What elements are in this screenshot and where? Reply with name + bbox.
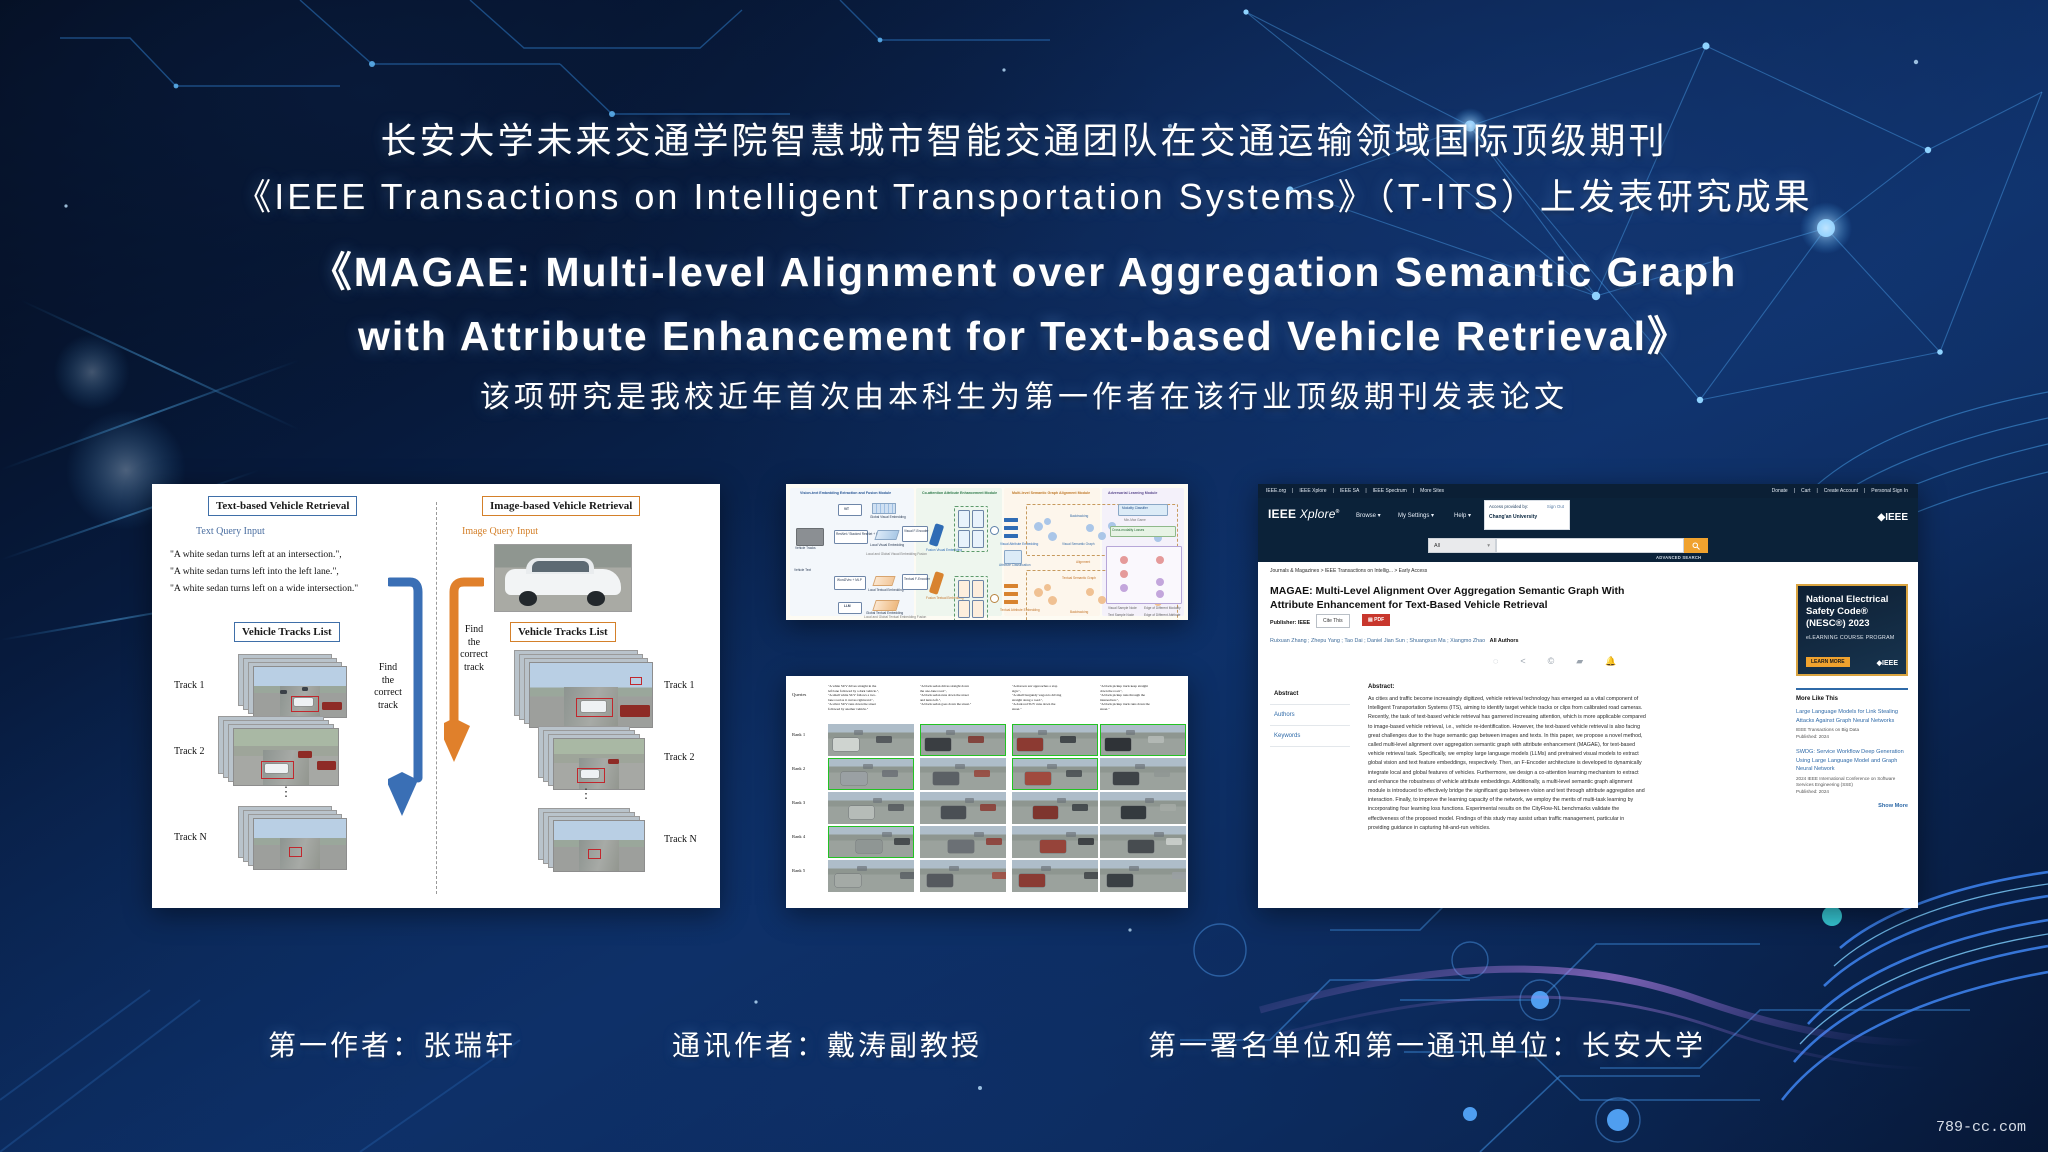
link-personal-sign-in[interactable]: Personal Sign In	[1871, 488, 1908, 494]
link-ieee-xplore[interactable]: IEEE Xplore	[1299, 488, 1326, 494]
link-donate[interactable]: Donate	[1772, 488, 1788, 494]
publisher-line: Publisher: IEEE	[1270, 620, 1310, 626]
rank-thumbnail	[828, 860, 914, 892]
pdf-button[interactable]: ▤ PDF	[1362, 614, 1390, 626]
breadcrumb[interactable]: Journals & Magazines > IEEE Transactions…	[1270, 568, 1427, 574]
ieee-search-row: All ▾ ADVANCED SEARCH	[1258, 532, 1918, 562]
track-ellipsis-left: ⋮	[276, 790, 296, 794]
arch-module-title-2: Co-attention Attribute Enhancement Modul…	[922, 491, 997, 495]
ieee-diamond-logo: ◆IEEE	[1878, 512, 1909, 523]
track-label-left-3: Track N	[174, 832, 207, 843]
rank-thumbnail	[920, 758, 1006, 790]
arch-module-title-3: Multi-level Semantic Graph Alignment Mod…	[1012, 491, 1090, 495]
label-image-query-input: Image Query Input	[462, 526, 538, 537]
rank-thumbnail	[828, 758, 914, 790]
chip-vehicle-tracks-list-right: Vehicle Tracks List	[510, 622, 616, 642]
find-track-caption-left: Find the correct track	[366, 662, 410, 712]
link-cart[interactable]: Cart	[1801, 488, 1810, 494]
chip-image-based-retrieval: Image-based Vehicle Retrieval	[482, 496, 640, 516]
rank-thumbnail	[1012, 826, 1098, 858]
sidenav-abstract[interactable]: Abstract	[1270, 684, 1350, 705]
rank-thumbnail	[1100, 724, 1186, 756]
ad-subtitle: eLEARNING COURSE PROGRAM	[1806, 635, 1898, 641]
figure-retrieval-ranking-results: Queries Rank 1 Rank 2 Rank 3 Rank 4 Rank…	[786, 676, 1188, 908]
chip-vehicle-tracks-list-left: Vehicle Tracks List	[234, 622, 340, 642]
search-input[interactable]	[1496, 538, 1684, 553]
rank-thumbnail	[1100, 860, 1186, 892]
arch-attribute-classification-icon	[1004, 550, 1022, 564]
ieee-top-utility-bar: IEEE.org| IEEE Xplore| IEEE SA| IEEE Spe…	[1258, 484, 1918, 498]
ieee-document-body: Journals & Magazines > IEEE Transactions…	[1258, 562, 1918, 908]
advanced-search-link[interactable]: ADVANCED SEARCH	[1656, 555, 1701, 560]
rank-query-col-3: "A maroon suv approaches a stop sign.", …	[1012, 684, 1100, 712]
sidenav-keywords[interactable]: Keywords	[1270, 726, 1350, 747]
track-label-right-2: Track 2	[664, 752, 694, 763]
chip-text-based-retrieval: Text-based Vehicle Retrieval	[208, 496, 357, 516]
rank-query-col-1: "A white SUV drives straight in the left…	[828, 684, 916, 712]
query-line-2: "A white sedan turns left into the left …	[170, 565, 339, 579]
author-list: Ruixuan Zhang ; Zhepu Yang ; Tao Dai ; D…	[1270, 638, 1519, 644]
track-label-left-1: Track 1	[174, 680, 204, 691]
rank-row-label-0: Queries	[792, 692, 806, 697]
query-line-3: "A white sedan turns left on a wide inte…	[170, 582, 358, 596]
search-scope-select[interactable]: All ▾	[1428, 538, 1496, 553]
document-title: MAGAE: Multi-Level Alignment Over Aggreg…	[1270, 584, 1640, 612]
track-label-left-2: Track 2	[174, 746, 204, 757]
rank-row-label-1: Rank 1	[792, 732, 805, 737]
alert-bell-icon[interactable]: 🔔	[1605, 656, 1616, 667]
track-label-right-3: Track N	[664, 834, 697, 845]
arch-input-vehicle-tracks	[796, 528, 824, 546]
headline-subtitle: 该项研究是我校近年首次由本科生为第一作者在该行业顶级期刊发表论文	[0, 372, 2048, 416]
query-car-image	[494, 544, 632, 612]
search-icon	[1692, 542, 1700, 550]
advertisement-nesc[interactable]: National Electrical Safety Code® (NESC®)…	[1796, 584, 1908, 676]
link-ieee-org[interactable]: IEEE.org	[1266, 488, 1286, 494]
rank-thumbnail	[920, 724, 1006, 756]
link-ieee-spectrum[interactable]: IEEE Spectrum	[1373, 488, 1407, 494]
arch-module-title-4: Adversarial Learning Module	[1108, 491, 1157, 495]
cite-this-button[interactable]: Cite This	[1316, 614, 1350, 628]
label-text-query-input: Text Query Input	[196, 526, 265, 537]
poster-canvas: 长安大学未来交通学院智慧城市智能交通团队在交通运输领域国际顶级期刊 《IEEE …	[0, 0, 2048, 1152]
rank-thumbnail	[1012, 724, 1098, 756]
footer-affiliation: 第一署名单位和第一通讯单位：长安大学	[1148, 1024, 1706, 1064]
track-label-right-1: Track 1	[664, 680, 694, 691]
rank-thumbnail	[828, 792, 914, 824]
rank-row-label-3: Rank 3	[792, 800, 805, 805]
figure-text-vs-image-retrieval: Text-based Vehicle Retrieval Image-based…	[152, 484, 720, 908]
rank-row-label-2: Rank 2	[792, 766, 805, 771]
rank-query-col-2: "A black sedan drives straight down the …	[920, 684, 1008, 707]
rank-thumbnail	[1100, 758, 1186, 790]
arch-input-vehicle-text: Vehicle Text	[794, 568, 824, 572]
abstract-text: As cities and traffic become increasingl…	[1368, 695, 1646, 833]
show-more-link[interactable]: Show More	[1796, 803, 1908, 809]
rank-thumbnail	[1100, 792, 1186, 824]
rank-thumbnail	[1012, 792, 1098, 824]
headline-line-1: 长安大学未来交通学院智慧城市智能交通团队在交通运输领域国际顶级期刊	[0, 112, 2048, 164]
ieee-xplore-logo[interactable]: IEEE Xplore®	[1268, 507, 1339, 521]
info-icon[interactable]: ◌	[1493, 656, 1498, 667]
folder-icon[interactable]: ▰	[1576, 656, 1583, 667]
rank-thumbnail	[1012, 758, 1098, 790]
track-ellipsis-right: ⋮	[576, 792, 596, 796]
link-create-account[interactable]: Create Account	[1824, 488, 1858, 494]
related-article-1-meta: IEEE Transactions on Big Data Published:…	[1796, 727, 1908, 740]
related-article-2-meta: 2024 IEEE International Conference on So…	[1796, 776, 1908, 795]
figure-model-architecture: Vision-text Embedding Extraction and Fus…	[786, 484, 1188, 620]
more-like-this-panel: More Like This Large Language Models for…	[1796, 688, 1908, 809]
rank-thumbnail	[828, 724, 914, 756]
watermark: 789-cc.com	[1936, 1119, 2026, 1136]
panel-divider	[436, 502, 437, 894]
more-like-this-heading: More Like This	[1796, 696, 1908, 702]
ad-learn-more-button[interactable]: LEARN MORE	[1806, 657, 1850, 667]
copyright-icon[interactable]: ©	[1548, 656, 1555, 667]
paper-title-line-1: 《MAGAE: Multi-level Alignment over Aggre…	[0, 240, 2048, 304]
headline-line-2: 《IEEE Transactions on Intelligent Transp…	[0, 168, 2048, 220]
rank-thumbnail	[920, 860, 1006, 892]
link-ieee-sa[interactable]: IEEE SA	[1340, 488, 1359, 494]
rank-thumbnail	[920, 826, 1006, 858]
nav-help[interactable]: Help ▾	[1454, 512, 1471, 519]
rank-query-col-4: "A black pickup truck keep straight down…	[1100, 684, 1188, 712]
paper-title-line-2: with Attribute Enhancement for Text-base…	[0, 304, 2048, 368]
nav-browse[interactable]: Browse ▾	[1356, 512, 1381, 519]
link-more-sites[interactable]: More Sites	[1420, 488, 1444, 494]
share-icon[interactable]: <	[1520, 656, 1525, 667]
sidenav-authors[interactable]: Authors	[1270, 705, 1350, 726]
sign-out-link[interactable]: Sign Out	[1547, 504, 1564, 509]
abstract-heading: Abstract:	[1368, 684, 1394, 690]
footer-corresponding-author: 通讯作者：戴涛副教授	[672, 1024, 982, 1064]
footer-first-author: 第一作者：张瑞轩	[268, 1024, 516, 1064]
arch-node-vit	[838, 504, 862, 516]
access-provided-box: Sign Out Access provided by: Chang'an Un…	[1484, 500, 1570, 530]
rank-row-label-5: Rank 5	[792, 868, 805, 873]
access-organization: Chang'an University	[1489, 514, 1565, 520]
ad-ieee-logo: ◆IEEE	[1877, 659, 1898, 667]
rank-thumbnail	[1012, 860, 1098, 892]
rank-thumbnail	[1100, 826, 1186, 858]
find-track-caption-right: Find the correct track	[452, 624, 496, 674]
search-button[interactable]	[1684, 538, 1708, 553]
nav-my-settings[interactable]: My Settings ▾	[1398, 512, 1434, 519]
rank-thumbnail	[828, 826, 914, 858]
related-article-1-title[interactable]: Large Language Models for Link Stealing …	[1796, 708, 1908, 725]
access-label: Access provided by:	[1489, 504, 1528, 509]
document-action-icons: ◌ < © ▰ 🔔	[1493, 656, 1616, 667]
document-section-nav: Abstract Authors Keywords	[1270, 684, 1350, 747]
screenshot-ieee-xplore-page: IEEE.org| IEEE Xplore| IEEE SA| IEEE Spe…	[1258, 484, 1918, 908]
query-line-1: "A white sedan turns left at an intersec…	[170, 548, 342, 562]
arch-caption-vehicle-tracks: Vehicle Tracks	[795, 546, 816, 550]
rank-row-label-4: Rank 4	[792, 834, 805, 839]
ieee-main-nav: IEEE Xplore® Browse ▾ My Settings ▾ Help…	[1258, 498, 1918, 532]
related-article-2-title[interactable]: SWDG: Service Workflow Deep Generation U…	[1796, 748, 1908, 774]
arch-module-title-1: Vision-text Embedding Extraction and Fus…	[800, 491, 891, 495]
all-authors-link[interactable]: All Authors	[1490, 638, 1519, 644]
rank-thumbnail	[920, 792, 1006, 824]
